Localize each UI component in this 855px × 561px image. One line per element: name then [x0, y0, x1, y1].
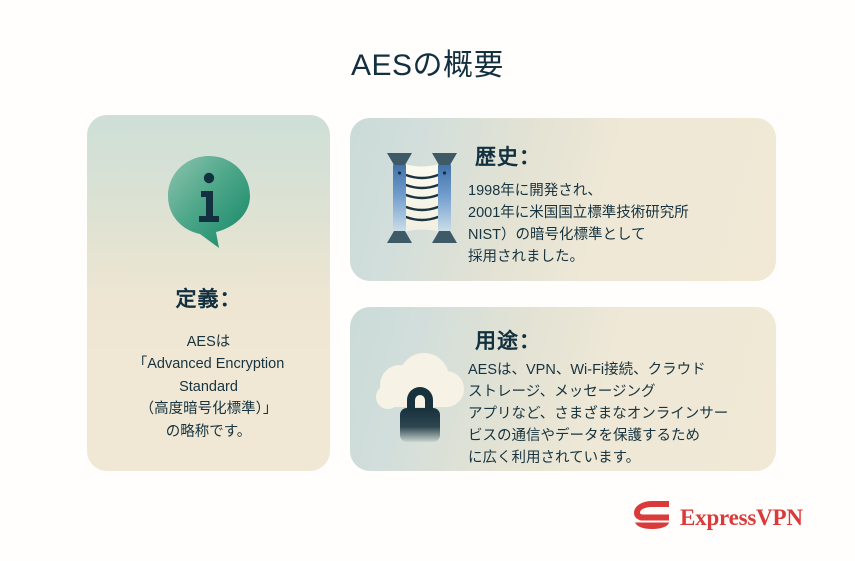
card-usage: 用途： AESは、VPN、Wi-Fi接続、クラウド ストレージ、メッセージング … — [350, 307, 776, 471]
slide-canvas: AESの概要 定義： AESは 「Advanced Encryption Sta… — [0, 0, 855, 561]
page-title: AESの概要 — [0, 40, 855, 84]
info-speech-bubble-icon — [163, 153, 255, 249]
usage-heading: 用途： — [475, 325, 541, 355]
definition-heading: 定義： — [87, 283, 330, 313]
definition-body: AESは 「Advanced Encryption Standard （高度暗号… — [97, 331, 320, 443]
usage-body: AESは、VPN、Wi-Fi接続、クラウド ストレージ、メッセージング アプリな… — [468, 359, 768, 469]
expressvpn-e-icon — [633, 500, 671, 535]
card-history: 歴史： 1998年に開発され、 2001年に米国国立標準技術研究所 NIST）の… — [350, 118, 776, 281]
card-definition: 定義： AESは 「Advanced Encryption Standard （… — [87, 115, 330, 471]
scroll-icon — [375, 143, 469, 253]
history-heading: 歴史： — [475, 141, 541, 171]
cloud-lock-icon — [362, 352, 472, 447]
history-body: 1998年に開発され、 2001年に米国国立標準技術研究所 NIST）の暗号化標… — [468, 180, 768, 268]
brand-logo-text: ExpressVPN — [680, 505, 803, 531]
brand-logo[interactable]: ExpressVPN — [633, 500, 803, 535]
